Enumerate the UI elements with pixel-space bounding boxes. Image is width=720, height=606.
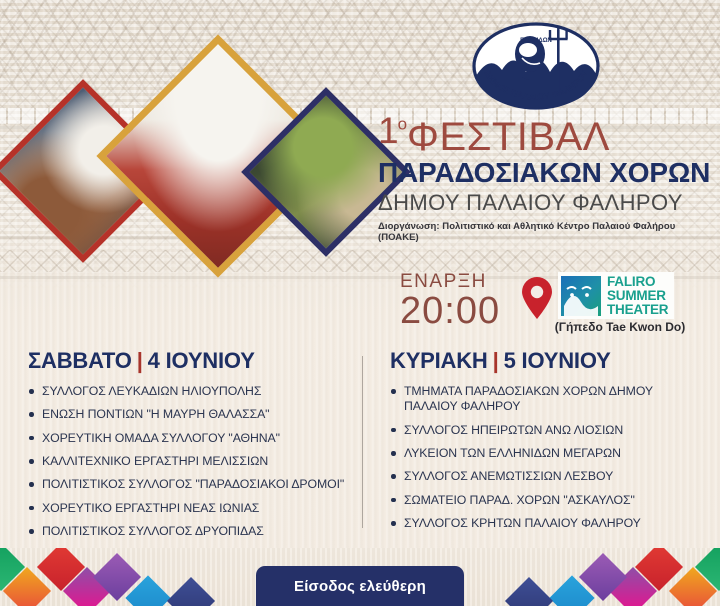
pattern-band-lower — [0, 250, 720, 272]
act-list-saturday: ΣΥΛΛΟΓΟΣ ΛΕΥΚΑΔΙΩΝ ΗΛΙΟΥΠΟΛΗΣΕΝΩΣΗ ΠΟΝΤΙ… — [28, 384, 353, 540]
list-item: ΣΩΜΑΤΕΙΟ ΠΑΡΑΔ. ΧΟΡΩΝ "ΑΣΚΑΥΛΟΣ" — [390, 493, 705, 508]
list-item: ΧΟΡΕΥΤΙΚΗ ΟΜΑΔΑ ΣΥΛΛΟΓΟΥ "ΑΘΗΝΑ" — [28, 431, 353, 446]
festival-title-line: 1ο ΦΕΣΤΙΒΑΛ — [378, 112, 706, 157]
list-item: ΤΜΗΜΑΤΑ ΠΑΡΑΔΟΣΙΑΚΩΝ ΧΟΡΩΝ ΔΗΜΟΥ ΠΑΛΑΙΟΥ… — [390, 384, 705, 415]
column-divider — [362, 356, 363, 528]
organizer-line: Διοργάνωση: Πολιτιστικό και Αθλητικό Κέν… — [378, 221, 706, 243]
list-item: ΕΝΩΣΗ ΠΟΝΤΙΩΝ "Η ΜΑΥΡΗ ΘΑΛΑΣΣΑ" — [28, 407, 353, 422]
day-separator-saturday: | — [137, 348, 143, 373]
day-column-saturday: ΣΑΒΒΑΤΟ|4 ΙΟΥΝΙΟΥ ΣΥΛΛΟΓΟΣ ΛΕΥΚΑΔΙΩΝ ΗΛΙ… — [28, 348, 353, 548]
faliro-logo-text: FALIRO SUMMER THEATER — [607, 275, 668, 316]
festival-poster: ΠΟΣΕΙΔΩΝ ΔΗΜΟΣ ΠΑΛΑΙΟΥ ΦΑΛΗΡΟΥ 1ο ΦΕΣΤΙΒ… — [0, 0, 720, 606]
bottom-strip: Είσοδος ελεύθερη — [0, 548, 720, 606]
start-time-block: ΕΝΑΡΞΗ 20:00 — [400, 272, 500, 332]
list-item: ΠΟΛΙΤΙΣΤΙΚΟΣ ΣΥΛΛΟΓΟΣ ΔΡΥΟΠΙΔΑΣ — [28, 524, 353, 539]
list-item: ΚΑΛΛΙΤΕΧΝΙΚΟ ΕΡΓΑΣΤΗΡΙ ΜΕΛΙΣΣΙΩΝ — [28, 454, 353, 469]
faliro-summer-theater-logo: FALIRO SUMMER THEATER — [558, 272, 674, 319]
location-pin-icon — [520, 276, 554, 320]
festival-word: ΦΕΣΤΙΒΑΛ — [407, 117, 610, 157]
list-item: ΣΥΛΛΟΓΟΣ ΚΡΗΤΩΝ ΠΑΛΑΙΟΥ ΦΑΛΗΡΟΥ — [390, 516, 705, 531]
start-time: 20:00 — [400, 292, 500, 332]
festival-ordinal: 1ο — [378, 112, 406, 149]
act-list-sunday: ΤΜΗΜΑΤΑ ΠΑΡΑΔΟΣΙΑΚΩΝ ΧΟΡΩΝ ΔΗΜΟΥ ΠΑΛΑΙΟΥ… — [390, 384, 705, 532]
day-name-saturday: ΣΑΒΒΑΤΟ — [28, 348, 132, 373]
emblem-top-text: ΠΟΣΕΙΔΩΝ — [520, 38, 552, 44]
festival-ordinal-sup: ο — [398, 115, 406, 134]
faliro-logo-line3: THEATER — [607, 303, 668, 317]
day-heading-sunday: ΚΥΡΙΑΚΗ|5 ΙΟΥΝΙΟΥ — [390, 348, 705, 374]
headline-block: 1ο ΦΕΣΤΙΒΑΛ ΠΑΡΑΔΟΣΙΑΚΩΝ ΧΟΡΩΝ ΔΗΜΟΥ ΠΑΛ… — [378, 112, 706, 243]
day-separator-sunday: | — [493, 348, 499, 373]
list-item: ΧΟΡΕΥΤΙΚΟ ΕΡΓΑΣΤΗΡΙ ΝΕΑΣ ΙΩΝΙΑΣ — [28, 501, 353, 516]
venue-note: (Γήπεδο Tae Kwon Do) — [525, 320, 715, 334]
day-heading-saturday: ΣΑΒΒΑΤΟ|4 ΙΟΥΝΙΟΥ — [28, 348, 353, 374]
day-name-sunday: ΚΥΡΙΑΚΗ — [390, 348, 488, 373]
day-date-saturday: 4 ΙΟΥΝΙΟΥ — [148, 348, 255, 373]
festival-main-title: ΠΑΡΑΔΟΣΙΑΚΩΝ ΧΟΡΩΝ — [378, 159, 706, 188]
list-item: ΠΟΛΙΤΙΣΤΙΚΟΣ ΣΥΛΛΟΓΟΣ "ΠΑΡΑΔΟΣΙΑΚΟΙ ΔΡΟΜ… — [28, 477, 353, 492]
venue-block: FALIRO SUMMER THEATER — [520, 272, 674, 320]
theater-masks-icon — [561, 276, 601, 316]
chevron-texture-band — [0, 0, 720, 120]
municipality-emblem-icon: ΠΟΣΕΙΔΩΝ ΔΗΜΟΣ ΠΑΛΑΙΟΥ ΦΑΛΗΡΟΥ — [470, 14, 605, 114]
list-item: ΣΥΛΛΟΓΟΣ ΗΠΕΙΡΩΤΩΝ ΑΝΩ ΛΙΟΣΙΩΝ — [390, 423, 705, 438]
list-item: ΛΥΚΕΙΟΝ ΤΩΝ ΕΛΛΗΝΙΔΩΝ ΜΕΓΑΡΩΝ — [390, 446, 705, 461]
day-date-sunday: 5 ΙΟΥΝΙΟΥ — [504, 348, 611, 373]
festival-subtitle: ΔΗΜΟΥ ΠΑΛΑΙΟΥ ΦΑΛΗΡΟΥ — [378, 191, 706, 214]
free-entry-badge[interactable]: Είσοδος ελεύθερη — [256, 566, 464, 606]
list-item: ΣΥΛΛΟΓΟΣ ΛΕΥΚΑΔΙΩΝ ΗΛΙΟΥΠΟΛΗΣ — [28, 384, 353, 399]
start-label: ΕΝΑΡΞΗ — [400, 272, 500, 291]
list-item: ΣΥΛΛΟΓΟΣ ΑΝΕΜΩΤΙΣΣΙΩΝ ΛΕΣΒΟΥ — [390, 469, 705, 484]
day-column-sunday: ΚΥΡΙΑΚΗ|5 ΙΟΥΝΙΟΥ ΤΜΗΜΑΤΑ ΠΑΡΑΔΟΣΙΑΚΩΝ Χ… — [390, 348, 705, 540]
faliro-logo-line2: SUMMER — [607, 289, 668, 303]
faliro-logo-line1: FALIRO — [607, 275, 668, 289]
